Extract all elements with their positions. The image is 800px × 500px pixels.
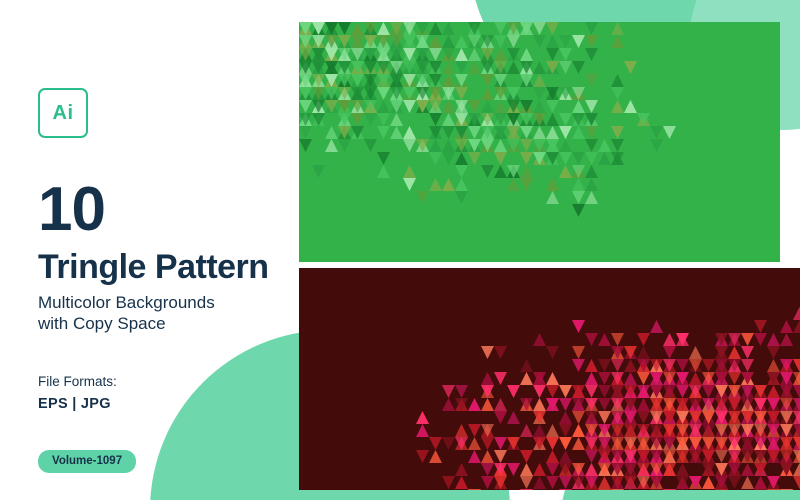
- item-count: 10: [38, 182, 298, 238]
- page-subtitle: Multicolor Backgrounds with Copy Space: [38, 292, 298, 334]
- adobe-illustrator-label: Ai: [53, 102, 74, 125]
- green-pattern-art: [299, 22, 780, 262]
- file-formats-value: EPS | JPG: [38, 396, 298, 412]
- adobe-illustrator-icon: Ai: [38, 88, 88, 138]
- poster-canvas: Ai 10 Tringle Pattern Multicolor Backgro…: [0, 0, 800, 500]
- info-panel: Ai 10 Tringle Pattern Multicolor Backgro…: [38, 88, 298, 473]
- page-title: Tringle Pattern: [38, 248, 298, 286]
- page-subtitle-line1: Multicolor Backgrounds: [38, 292, 298, 313]
- volume-badge: Volume-1097: [38, 450, 136, 473]
- page-subtitle-line2: with Copy Space: [38, 313, 298, 334]
- green-triangle-pattern-preview[interactable]: [299, 22, 780, 262]
- file-formats-label: File Formats:: [38, 374, 298, 389]
- red-triangle-pattern-preview[interactable]: [299, 268, 800, 490]
- red-pattern-art: [299, 268, 800, 490]
